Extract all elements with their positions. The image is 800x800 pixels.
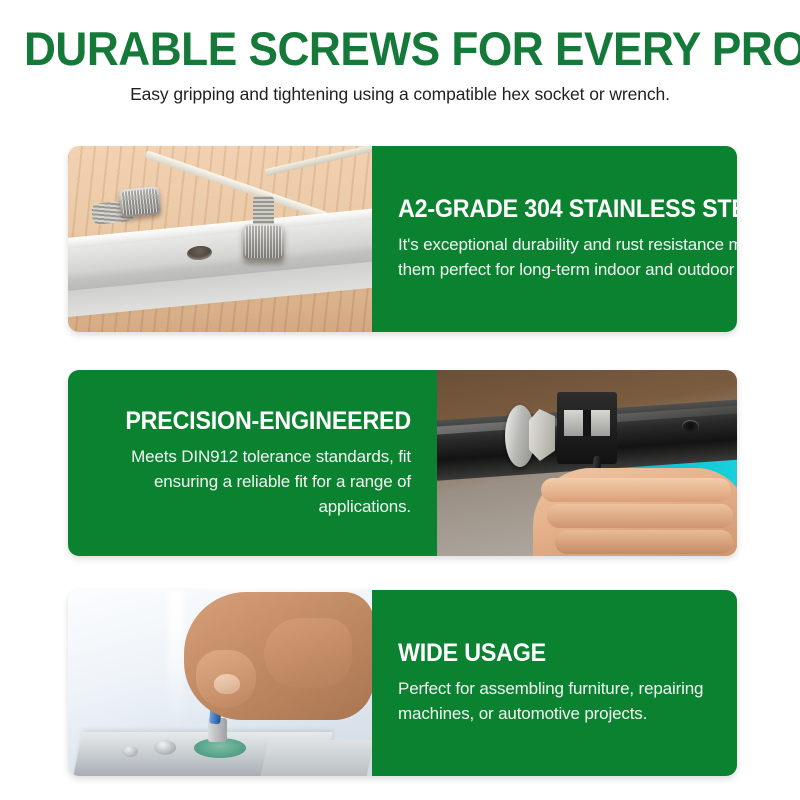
product-photo-hand-driver-plate — [68, 590, 372, 776]
screw-knurling-right — [245, 226, 282, 258]
clamp-gap — [583, 410, 591, 436]
screw-knurling-left — [121, 188, 159, 216]
finger-ring — [555, 530, 733, 554]
plate-boss-left — [122, 746, 138, 757]
feature-panel: PRECISION-ENGINEERED Meets DIN912 tolera… — [68, 370, 437, 556]
header: DURABLE SCREWS FOR EVERY PROJECT Easy gr… — [0, 0, 800, 105]
feature-card: A2-GRADE 304 STAINLESS STEEL It's except… — [68, 146, 737, 332]
feature-panel: WIDE USAGE Perfect for assembling furnit… — [372, 590, 737, 776]
tube-hole — [682, 420, 699, 433]
plate-boss-center — [154, 740, 176, 755]
hex-nut — [529, 409, 555, 461]
page-title: DURABLE SCREWS FOR EVERY PROJECT — [24, 24, 776, 74]
finger-index — [541, 478, 731, 502]
infographic-page: DURABLE SCREWS FOR EVERY PROJECT Easy gr… — [0, 0, 800, 800]
feature-heading: PRECISION-ENGINEERED — [116, 408, 411, 435]
feature-heading: A2-GRADE 304 STAINLESS STEEL — [398, 196, 737, 223]
feature-panel: A2-GRADE 304 STAINLESS STEEL It's except… — [372, 146, 737, 332]
feature-card: PRECISION-ENGINEERED Meets DIN912 tolera… — [68, 370, 737, 556]
hand-knuckles — [264, 618, 352, 688]
feature-card: WIDE USAGE Perfect for assembling furnit… — [68, 590, 737, 776]
finger-middle — [547, 504, 733, 528]
light-streak-left — [168, 590, 184, 730]
thumbnail — [214, 674, 240, 694]
feature-body: Meets DIN912 tolerance standards, fit en… — [94, 444, 411, 519]
feature-body: Perfect for assembling furniture, repair… — [398, 676, 711, 726]
page-subtitle: Easy gripping and tightening using a com… — [0, 83, 800, 105]
product-photo-hand-tightening-tube — [437, 370, 737, 556]
metal-plate-secondary — [260, 740, 372, 776]
feature-heading: WIDE USAGE — [398, 640, 689, 667]
feature-body: It's exceptional durability and rust res… — [398, 232, 737, 282]
product-photo-screws-on-bar — [68, 146, 372, 332]
